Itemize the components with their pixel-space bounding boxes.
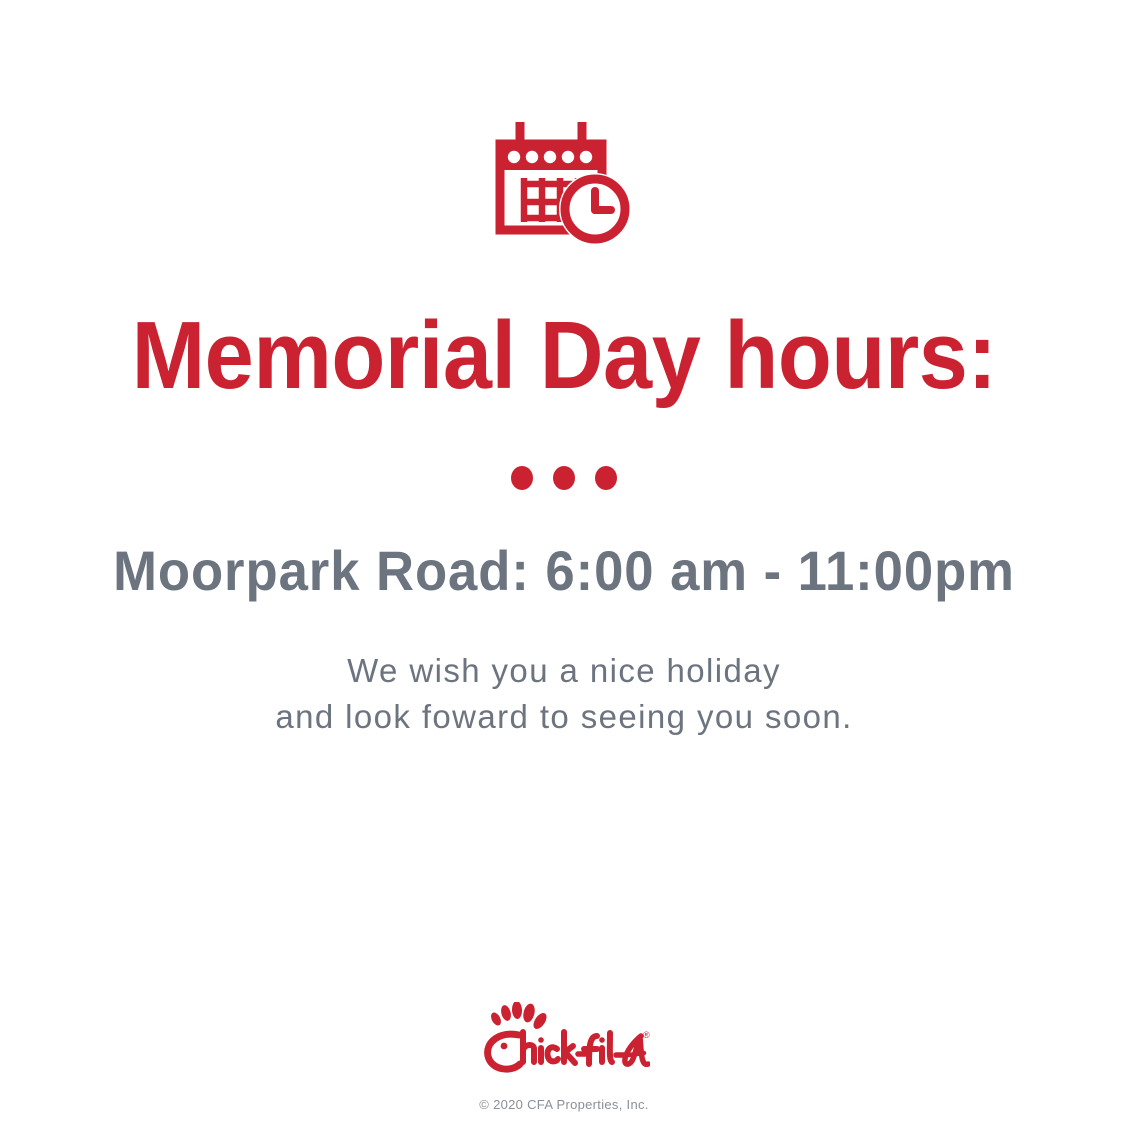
page-title: Memorial Day hours: — [45, 300, 1083, 412]
chicken-comb-icon — [489, 1002, 549, 1031]
calendar-clock-icon-wrapper — [0, 118, 1128, 246]
separator-dot — [595, 466, 617, 490]
chick-fil-a-logo: ® — [478, 1002, 650, 1076]
store-hours-line: Moorpark Road: 6:00 am - 11:00pm — [34, 538, 1094, 604]
separator-dot — [511, 466, 533, 490]
chick-fil-a-logo-wrapper: ® — [0, 1002, 1128, 1076]
chick-fil-a-wordmark — [488, 1032, 648, 1069]
promo-poster: Memorial Day hours: Moorpark Road: 6:00 … — [0, 0, 1128, 1128]
registered-trademark-icon: ® — [643, 1030, 650, 1040]
three-dots-separator — [0, 466, 1128, 490]
separator-dot — [553, 466, 575, 490]
calendar-header-band — [500, 144, 602, 170]
message-line-2: and look foward to seeing you soon. — [0, 694, 1128, 740]
calendar-clock-icon — [494, 118, 634, 246]
message-body: We wish you a nice holiday and look fowa… — [0, 648, 1128, 740]
copyright-text: © 2020 CFA Properties, Inc. — [0, 1097, 1128, 1112]
message-line-1: We wish you a nice holiday — [0, 648, 1128, 694]
